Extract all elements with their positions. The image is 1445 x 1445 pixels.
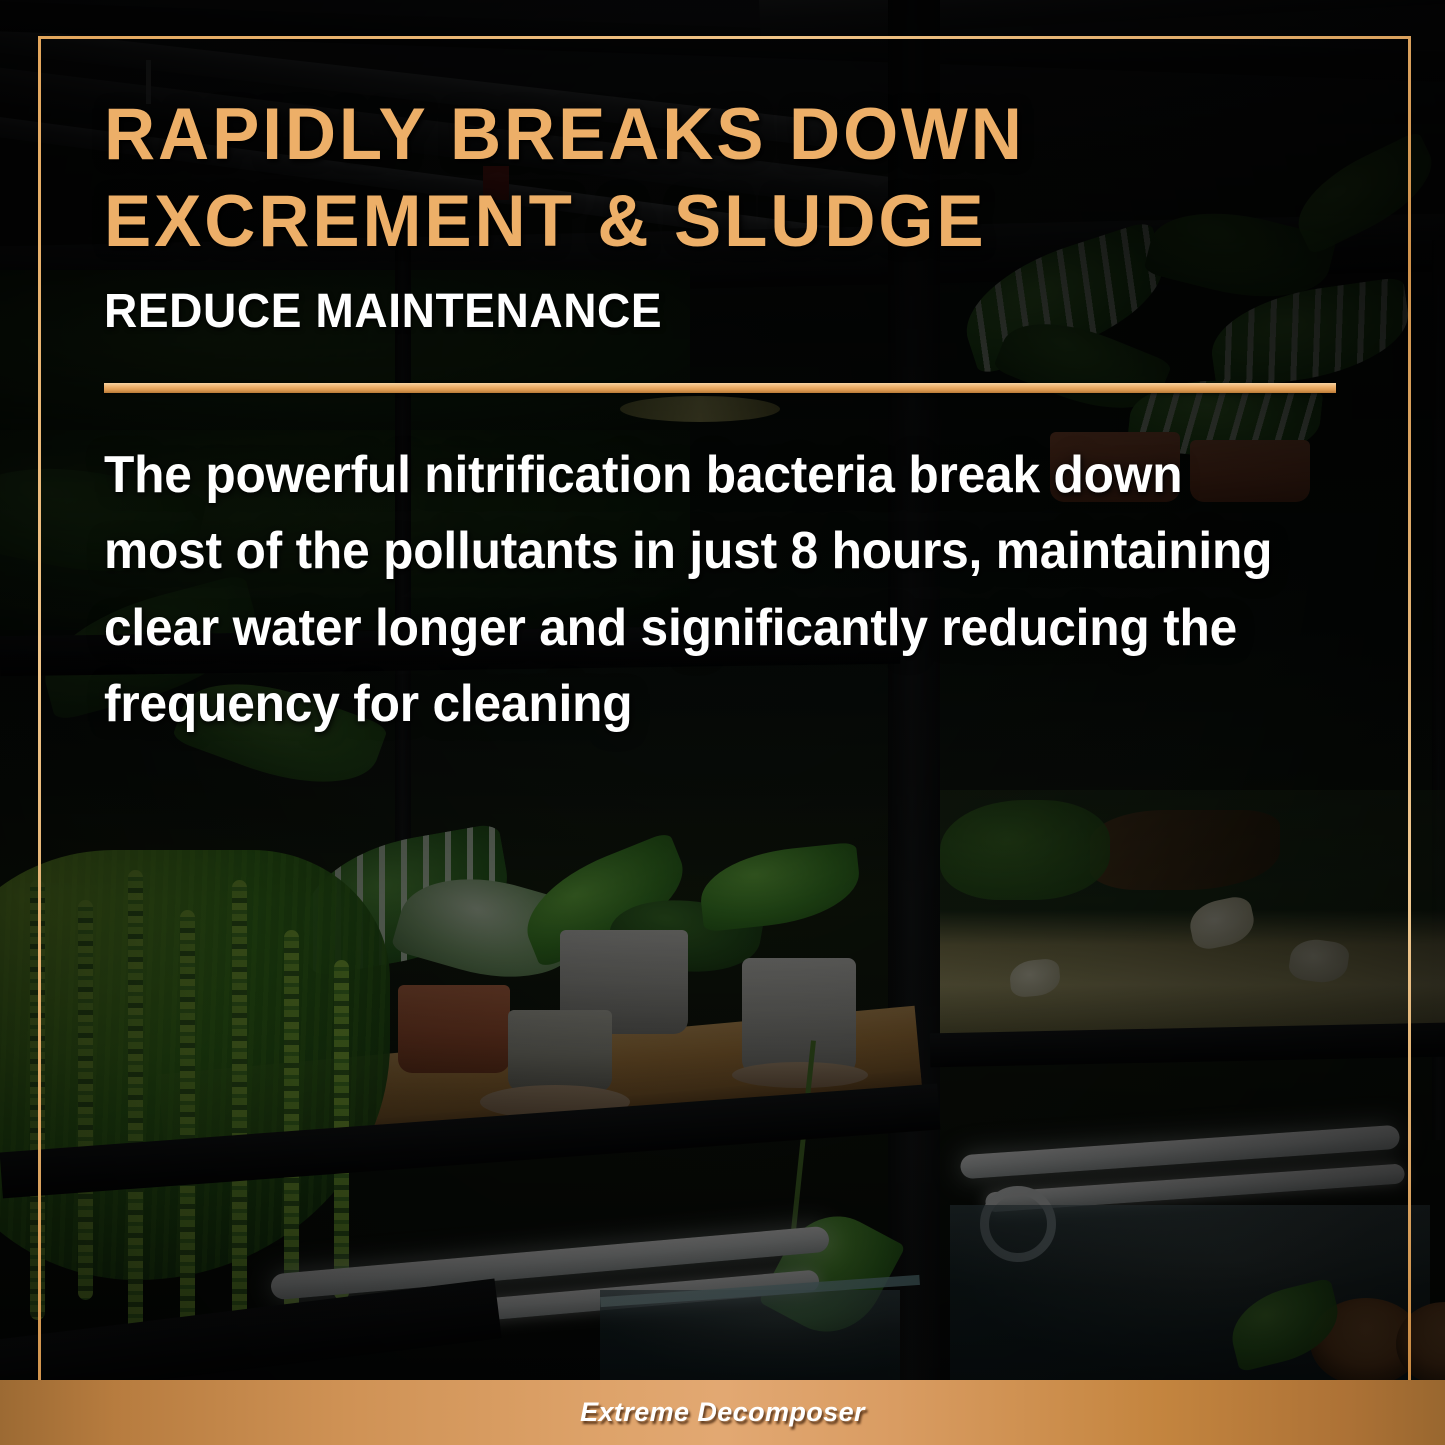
- body-paragraph: The powerful nitrification bacteria brea…: [104, 437, 1288, 743]
- page-title: Rapidly Breaks Down Excrement & Sludge: [104, 92, 1307, 266]
- poster-content: Rapidly Breaks Down Excrement & Sludge R…: [104, 92, 1344, 743]
- gold-divider-rule: [104, 383, 1336, 393]
- product-feature-poster: Rapidly Breaks Down Excrement & Sludge R…: [0, 0, 1445, 1445]
- footer-product-name: Extreme Decomposer: [580, 1397, 865, 1428]
- subtitle: Reduce Maintenance: [104, 284, 1294, 339]
- footer-bar: Extreme Decomposer: [0, 1380, 1445, 1445]
